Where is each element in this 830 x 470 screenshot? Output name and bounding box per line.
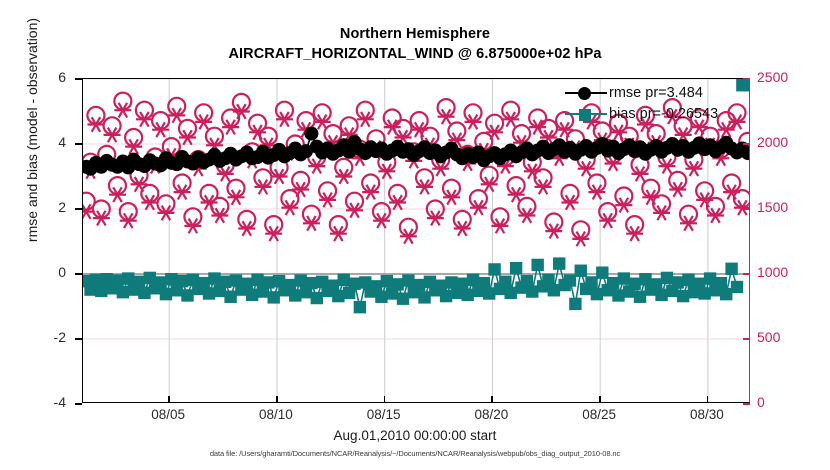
left-axis-tick [75,143,82,145]
left-axis-tick [75,78,82,80]
x-axis-tick-label: 08/20 [451,407,531,422]
x-axis-tick-label: 08/10 [236,407,316,422]
x-axis-tick-label: 08/15 [344,407,424,422]
x-axis-tick [599,396,601,403]
x-axis-tick-label: 08/25 [559,407,639,422]
left-axis-tick-label: 4 [22,134,66,150]
legend-item[interactable]: rmse pr=3.484 [563,82,748,103]
x-axis-tick [707,396,709,403]
legend-label: bias pr=-0.26543 [609,106,718,122]
left-axis-tick [75,338,82,340]
x-axis-tick-label: 08/30 [667,407,747,422]
right-axis-tick [743,338,750,340]
chart-title: Northern Hemisphere AIRCRAFT_HORIZONTAL_… [0,24,830,64]
legend-marker-filled-square [563,105,609,123]
plot-canvas [83,79,749,402]
left-axis-tick-label: 2 [22,199,66,215]
legend-marker-filled-circle [563,84,609,102]
obs-diagnostic-figure: Northern Hemisphere AIRCRAFT_HORIZONTAL_… [0,0,830,470]
series-canvas [83,79,749,402]
right-axis-tick [743,143,750,145]
x-axis-tick [276,396,278,403]
legend-item[interactable]: bias pr=-0.26543 [563,103,748,124]
chart-legend: rmse pr=3.484bias pr=-0.26543 [563,80,748,126]
circle-icon [578,87,591,100]
left-axis-tick-label: -4 [22,394,66,410]
x-axis-tick [168,396,170,403]
left-axis-tick [75,403,82,405]
x-axis-tick [491,396,493,403]
chart-title-line-2: AIRCRAFT_HORIZONTAL_WIND @ 6.875000e+02 … [0,44,830,64]
right-axis-tick-label: 1000 [757,264,809,280]
x-axis-tick [384,396,386,403]
x-axis-title: Aug.01,2010 00:00:00 start [0,428,830,443]
legend-label: rmse pr=3.484 [609,85,703,101]
right-axis-tick [743,208,750,210]
left-axis-tick-label: -2 [22,329,66,345]
left-axis-tick [75,273,82,275]
left-axis-tick [75,208,82,210]
square-icon [579,109,591,121]
left-axis-tick-label: 0 [22,264,66,280]
chart-title-line-1: Northern Hemisphere [0,24,830,44]
right-axis-tick [743,403,750,405]
right-axis-tick-label: 0 [757,394,809,410]
right-axis-tick-label: 1500 [757,199,809,215]
right-axis-tick-label: 500 [757,329,809,345]
x-axis-tick-label: 08/05 [128,407,208,422]
right-axis-tick-label: 2500 [757,69,809,85]
data-file-footer: data file: /Users/gharamti/Documents/NCA… [0,449,830,458]
left-axis-tick-label: 6 [22,69,66,85]
plot-area [82,78,750,403]
right-axis-tick [743,273,750,275]
right-axis-tick-label: 2000 [757,134,809,150]
